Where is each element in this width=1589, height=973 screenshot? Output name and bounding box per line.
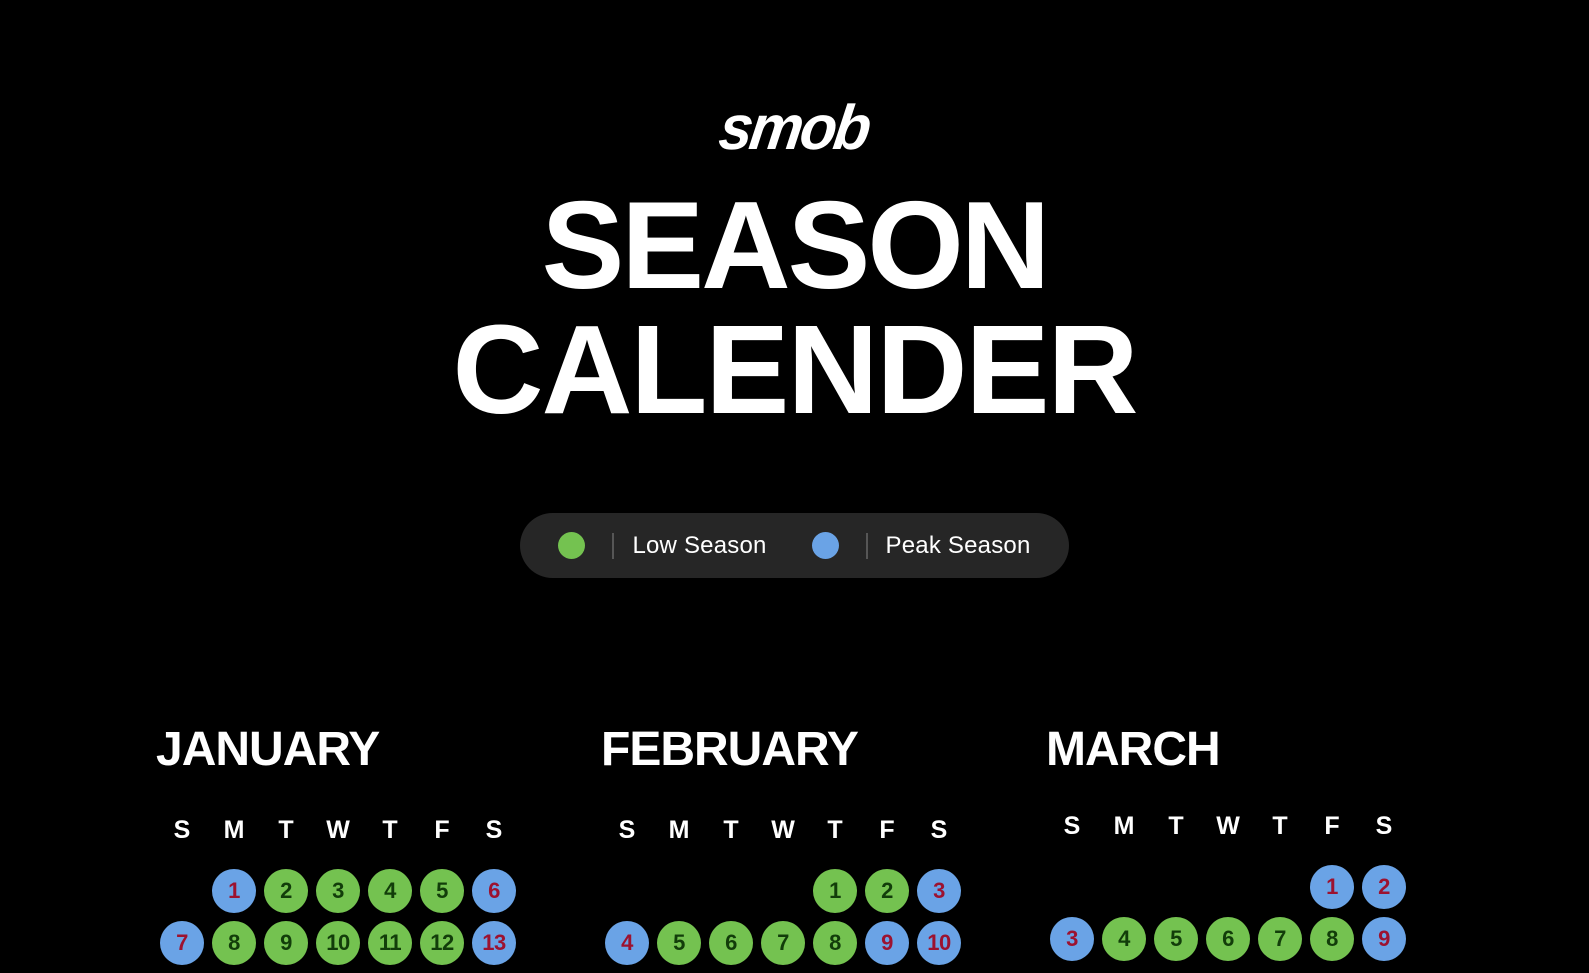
day-cell-empty — [601, 865, 653, 917]
day-peak-season[interactable]: 13 — [472, 921, 516, 965]
weekday-header: S — [913, 818, 965, 843]
weekday-header-row: SMTWTFS — [156, 818, 601, 843]
day-cell[interactable]: 2 — [861, 865, 913, 917]
weekday-header: T — [705, 818, 757, 843]
weekday-header: T — [1150, 814, 1202, 839]
legend-pill: Low Season Peak Season — [520, 513, 1068, 578]
peak-season-dot-icon — [812, 532, 839, 559]
day-low-season[interactable]: 8 — [813, 921, 857, 965]
page-title-line-2: CALENDER — [0, 308, 1589, 431]
day-cell[interactable]: 3 — [913, 865, 965, 917]
day-cell[interactable]: 13 — [468, 917, 520, 969]
weekday-header: T — [809, 818, 861, 843]
day-cell-empty — [156, 865, 208, 917]
month-name: JANUARY — [156, 726, 601, 774]
day-cell[interactable]: 8 — [1306, 913, 1358, 965]
day-grid: 123456789 — [1046, 861, 1491, 965]
day-cell[interactable]: 5 — [416, 865, 468, 917]
day-cell-empty — [1150, 861, 1202, 913]
day-cell[interactable]: 10 — [312, 917, 364, 969]
legend-divider — [612, 533, 614, 559]
day-cell-empty — [705, 865, 757, 917]
day-low-season[interactable]: 2 — [264, 869, 308, 913]
day-peak-season[interactable]: 9 — [865, 921, 909, 965]
day-cell[interactable]: 9 — [1358, 913, 1410, 965]
day-peak-season[interactable]: 6 — [472, 869, 516, 913]
weekday-header: M — [208, 818, 260, 843]
weekday-header: W — [312, 818, 364, 843]
day-peak-season[interactable]: 2 — [1362, 865, 1406, 909]
calendar-months: JANUARYSMTWTFS12345678910111213FEBRUARYS… — [0, 726, 1589, 973]
weekday-header-row: SMTWTFS — [1046, 814, 1491, 839]
weekday-header: F — [416, 818, 468, 843]
day-cell[interactable]: 4 — [601, 917, 653, 969]
day-cell[interactable]: 1 — [1306, 861, 1358, 913]
day-cell[interactable]: 8 — [809, 917, 861, 969]
season-legend: Low Season Peak Season — [0, 513, 1589, 578]
weekday-header: T — [1254, 814, 1306, 839]
month-name: MARCH — [1046, 726, 1491, 774]
day-cell[interactable]: 6 — [705, 917, 757, 969]
weekday-header: T — [260, 818, 312, 843]
day-low-season[interactable]: 12 — [420, 921, 464, 965]
day-low-season[interactable]: 9 — [264, 921, 308, 965]
day-cell[interactable]: 3 — [1046, 913, 1098, 965]
day-peak-season[interactable]: 3 — [1050, 917, 1094, 961]
day-low-season[interactable]: 7 — [1258, 917, 1302, 961]
day-cell[interactable]: 6 — [1202, 913, 1254, 965]
weekday-header: S — [1046, 814, 1098, 839]
day-cell[interactable]: 9 — [861, 917, 913, 969]
day-low-season[interactable]: 8 — [212, 921, 256, 965]
day-cell[interactable]: 5 — [653, 917, 705, 969]
day-peak-season[interactable]: 4 — [605, 921, 649, 965]
weekday-header: S — [156, 818, 208, 843]
day-cell[interactable]: 9 — [260, 917, 312, 969]
legend-item-peak-season: Peak Season — [812, 532, 1031, 560]
day-cell-empty — [1098, 861, 1150, 913]
weekday-header: T — [364, 818, 416, 843]
day-low-season[interactable]: 7 — [761, 921, 805, 965]
weekday-header: S — [601, 818, 653, 843]
day-cell[interactable]: 8 — [208, 917, 260, 969]
day-low-season[interactable]: 2 — [865, 869, 909, 913]
day-peak-season[interactable]: 1 — [1310, 865, 1354, 909]
day-cell[interactable]: 1 — [809, 865, 861, 917]
day-low-season[interactable]: 4 — [1102, 917, 1146, 961]
day-low-season[interactable]: 5 — [657, 921, 701, 965]
day-cell[interactable]: 3 — [312, 865, 364, 917]
day-cell[interactable]: 12 — [416, 917, 468, 969]
day-low-season[interactable]: 1 — [813, 869, 857, 913]
day-low-season[interactable]: 5 — [1154, 917, 1198, 961]
day-cell[interactable]: 7 — [757, 917, 809, 969]
day-low-season[interactable]: 3 — [316, 869, 360, 913]
weekday-header: M — [1098, 814, 1150, 839]
day-cell-empty — [1202, 861, 1254, 913]
weekday-header: M — [653, 818, 705, 843]
day-cell[interactable]: 5 — [1150, 913, 1202, 965]
page-title: SEASON CALENDER — [0, 186, 1589, 431]
day-low-season[interactable]: 4 — [368, 869, 412, 913]
day-grid: 12345678910 — [601, 865, 1046, 969]
legend-divider — [866, 533, 868, 559]
day-cell[interactable]: 2 — [260, 865, 312, 917]
weekday-header: F — [861, 818, 913, 843]
day-cell[interactable]: 11 — [364, 917, 416, 969]
day-peak-season[interactable]: 3 — [917, 869, 961, 913]
day-cell[interactable]: 1 — [208, 865, 260, 917]
day-cell-empty — [757, 865, 809, 917]
day-cell[interactable]: 7 — [156, 917, 208, 969]
legend-label-low-season: Low Season — [632, 532, 766, 560]
day-cell[interactable]: 6 — [468, 865, 520, 917]
weekday-header: F — [1306, 814, 1358, 839]
day-cell-empty — [653, 865, 705, 917]
day-low-season[interactable]: 6 — [709, 921, 753, 965]
month-column-january: JANUARYSMTWTFS12345678910111213 — [156, 726, 601, 973]
day-grid: 12345678910111213 — [156, 865, 601, 969]
day-cell[interactable]: 4 — [364, 865, 416, 917]
day-peak-season[interactable]: 10 — [917, 921, 961, 965]
weekday-header: S — [1358, 814, 1410, 839]
day-cell[interactable]: 2 — [1358, 861, 1410, 913]
page-title-line-1: SEASON — [0, 186, 1589, 308]
day-peak-season[interactable]: 1 — [212, 869, 256, 913]
brand-logo: smob — [0, 96, 1589, 160]
smob-wordmark-logo: smob — [716, 97, 873, 160]
day-low-season[interactable]: 6 — [1206, 917, 1250, 961]
day-peak-season[interactable]: 9 — [1362, 917, 1406, 961]
weekday-header: W — [1202, 814, 1254, 839]
weekday-header: W — [757, 818, 809, 843]
low-season-dot-icon — [558, 532, 585, 559]
day-low-season[interactable]: 11 — [368, 921, 412, 965]
day-cell-empty — [1046, 861, 1098, 913]
day-cell[interactable]: 10 — [913, 917, 965, 969]
legend-item-low-season: Low Season — [558, 532, 766, 560]
day-low-season[interactable]: 10 — [316, 921, 360, 965]
day-cell-empty — [1254, 861, 1306, 913]
weekday-header-row: SMTWTFS — [601, 818, 1046, 843]
month-name: FEBRUARY — [601, 726, 1046, 774]
month-column-march: MARCHSMTWTFS123456789 — [1046, 726, 1491, 973]
day-peak-season[interactable]: 7 — [160, 921, 204, 965]
day-cell[interactable]: 4 — [1098, 913, 1150, 965]
legend-label-peak-season: Peak Season — [886, 532, 1031, 560]
day-low-season[interactable]: 5 — [420, 869, 464, 913]
month-column-february: FEBRUARYSMTWTFS12345678910 — [601, 726, 1046, 973]
day-cell[interactable]: 7 — [1254, 913, 1306, 965]
day-low-season[interactable]: 8 — [1310, 917, 1354, 961]
weekday-header: S — [468, 818, 520, 843]
